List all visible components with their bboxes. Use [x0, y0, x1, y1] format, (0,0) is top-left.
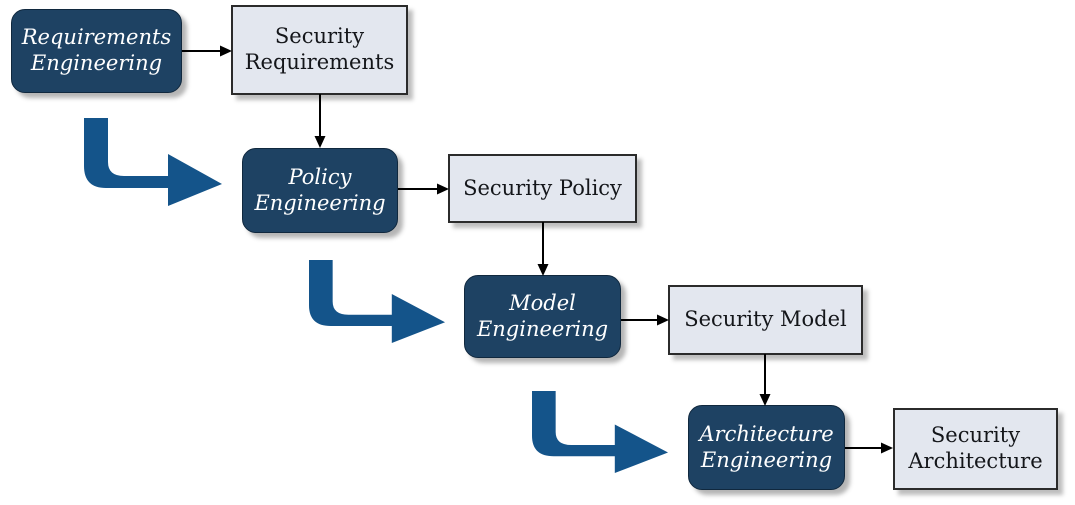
- flow-arrow-model-to-architecture: [532, 391, 670, 473]
- node-label: Security Model: [684, 307, 847, 333]
- node-security-model[interactable]: Security Model: [668, 285, 863, 355]
- node-security-policy[interactable]: Security Policy: [448, 154, 637, 223]
- node-security-architecture[interactable]: Security Architecture: [893, 408, 1058, 490]
- node-label: Security Requirements: [245, 24, 394, 75]
- connector-model-engineering-to-security-model: [621, 313, 671, 327]
- node-label: Model Engineering: [477, 291, 608, 342]
- node-security-requirements[interactable]: Security Requirements: [231, 5, 408, 95]
- node-policy-engineering[interactable]: Policy Engineering: [242, 148, 398, 233]
- connector-policy-engineering-to-security-policy: [398, 182, 451, 196]
- connector-security-requirements-to-policy-engineering: [313, 94, 327, 150]
- node-label: Security Architecture: [908, 423, 1042, 474]
- flow-arrow-policy-to-model: [309, 260, 447, 343]
- node-architecture-engineering[interactable]: Architecture Engineering: [688, 405, 845, 490]
- connector-architecture-engineering-to-security-architecture: [845, 441, 895, 455]
- connector-security-policy-to-model-engineering: [536, 222, 550, 278]
- node-requirements-engineering[interactable]: Requirements Engineering: [11, 9, 182, 93]
- connector-requirements-engineering-to-security-requirements: [182, 44, 234, 58]
- node-label: Policy Engineering: [254, 165, 385, 216]
- node-label: Security Policy: [463, 176, 622, 202]
- node-label: Architecture Engineering: [699, 422, 833, 473]
- flow-arrow-requirements-to-policy: [84, 118, 224, 206]
- security-engineering-diagram: Requirements Engineering Security Requir…: [0, 0, 1075, 505]
- connector-security-model-to-architecture-engineering: [758, 354, 772, 408]
- node-label: Requirements Engineering: [22, 25, 171, 76]
- node-model-engineering[interactable]: Model Engineering: [464, 275, 621, 358]
